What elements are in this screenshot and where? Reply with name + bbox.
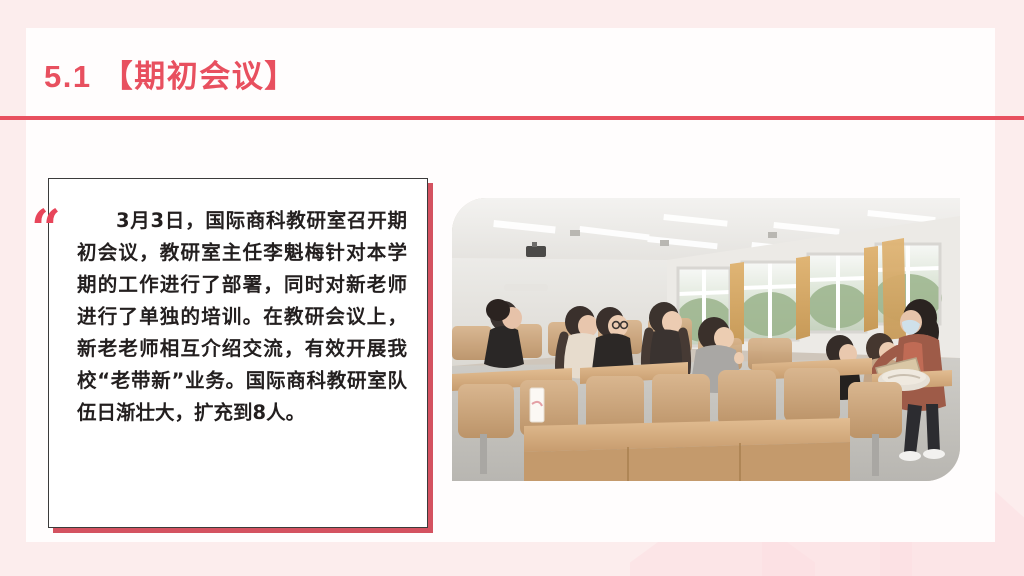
title-divider-rule [0, 116, 1024, 120]
photo-illustration [452, 198, 960, 481]
quote-open-icon: “ [31, 204, 59, 256]
quote-card: 3月3日，国际商科教研室召开期初会议，教研室主任李魁梅针对本学期的工作进行了部署… [48, 178, 428, 528]
quote-card-container: 3月3日，国际商科教研室召开期初会议，教研室主任李魁梅针对本学期的工作进行了部署… [48, 178, 428, 528]
page-title: 5.1 【期初会议】 [44, 51, 297, 96]
classroom-meeting-photo [452, 198, 960, 481]
quote-body-text: 3月3日，国际商科教研室召开期初会议，教研室主任李魁梅针对本学期的工作进行了部署… [77, 205, 407, 429]
slide-header: 5.1 【期初会议】 [26, 28, 995, 118]
person-1 [484, 299, 524, 368]
slide-root: 5.1 【期初会议】 3月3日，国际商科教研室召开期初会议，教研室主任李魁梅针对… [0, 0, 1024, 576]
